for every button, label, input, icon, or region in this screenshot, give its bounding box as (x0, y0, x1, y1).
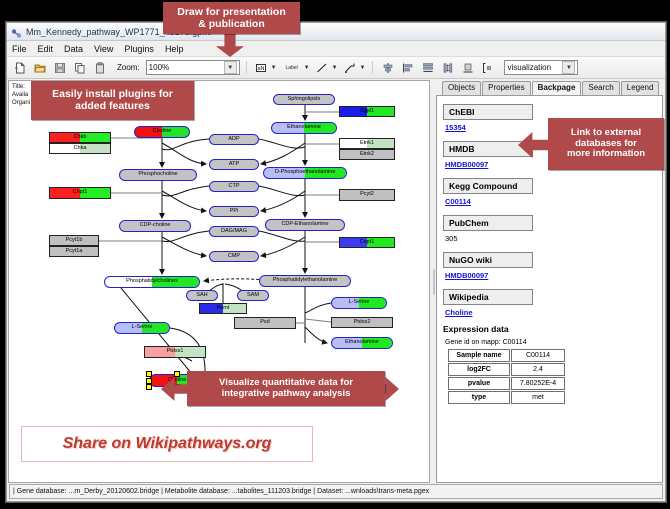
node-label: CMP (228, 254, 240, 260)
node-label: PPi (230, 209, 239, 215)
node-label: Chka (74, 146, 87, 152)
annotation-plugins: Easily install plugins for added feature… (31, 80, 194, 120)
selection-handle[interactable] (146, 371, 152, 377)
toolbar: Zoom: 100% ▼ aN ▼ Label ▼ ▼ ▼ (7, 57, 665, 79)
gene-id-line: Gene id on mapp: C00114 (445, 339, 656, 346)
backpage-header-pubchem: PubChem (443, 215, 533, 231)
pathway-canvas[interactable]: Title: Availa Organi (8, 80, 430, 483)
menu-bar[interactable]: File Edit Data View Plugins Help (7, 41, 665, 57)
node-label: Phosphatidylethanolamine (273, 278, 338, 284)
visualization-chevron-down-icon[interactable]: ▼ (562, 61, 575, 74)
expr-val-sample-name: C00114 (511, 349, 565, 362)
annotation-plugins-text: Easily install plugins for added feature… (52, 88, 173, 112)
pathway-node-ctp[interactable]: CTP (209, 181, 259, 192)
zoom-combo[interactable]: 100% ▼ (146, 60, 240, 75)
table-row: type met (448, 391, 565, 404)
expr-key-sample-name: Sample name (448, 349, 510, 362)
selection-handle[interactable] (146, 384, 152, 390)
expr-key-pvalue: pvalue (448, 377, 510, 390)
zoom-value: 100% (149, 63, 224, 72)
pathway-node-chpt1[interactable]: Chpt1 (49, 187, 111, 199)
annotation-draw: Draw for presentation & publication (163, 2, 300, 34)
backpage-link-wikipedia[interactable]: Choline (445, 308, 656, 317)
save-icon[interactable] (51, 59, 68, 76)
node-label: Cept1 (360, 240, 375, 246)
label-tool-text: Label (286, 65, 298, 71)
distribute-icon[interactable] (439, 59, 456, 76)
toolbar-separator (246, 61, 247, 74)
menu-edit[interactable]: Edit (36, 44, 56, 54)
pathway-node-choline_top[interactable]: Choline (134, 126, 190, 138)
pathway-node-pcyt2[interactable]: Pcyt2 (339, 189, 395, 201)
pathway-node-l_serine_right[interactable]: L-Serine (331, 297, 387, 309)
menu-data[interactable]: Data (62, 44, 85, 54)
node-label: Chpt1 (73, 190, 88, 196)
pathway-node-cmp[interactable]: CMP (209, 251, 259, 262)
pathway-node-atp[interactable]: ATP (209, 159, 259, 170)
pathway-node-ptdss2[interactable]: Ptdss2 (331, 317, 393, 328)
node-label: Pcyt1a (66, 249, 83, 255)
pathway-node-etnk2[interactable]: Etnk2 (339, 149, 395, 160)
tab-backpage[interactable]: Backpage (532, 81, 582, 96)
screen: Mm_Kennedy_pathway_WP1771_45176.gpml Fil… (0, 0, 670, 509)
visualization-combo[interactable]: visualization ▼ (504, 60, 578, 75)
backpage-value-pubchem: 305 (445, 234, 656, 243)
table-row: Sample name C00114 (448, 349, 565, 362)
annotation-share: Share on Wikipathways.org (21, 426, 313, 462)
line-dropdown-icon[interactable]: ▼ (332, 65, 338, 71)
pathway-node-pemt[interactable]: Pemt (199, 303, 247, 314)
menu-file[interactable]: File (10, 44, 29, 54)
menu-help[interactable]: Help (163, 44, 186, 54)
selection-handle[interactable] (174, 371, 180, 377)
svg-text:aN: aN (258, 66, 265, 72)
node-label: Choline (153, 129, 172, 135)
pathway-node-dag_mag[interactable]: DAG/MAG (209, 226, 259, 237)
annotation-share-text: Share on Wikipathways.org (63, 435, 272, 453)
pathway-node-ethanolamine_top[interactable]: Ethanolamine (271, 122, 337, 134)
paste-icon[interactable] (91, 59, 108, 76)
backpage-entry-wikipedia: Wikipedia Choline (443, 287, 656, 317)
node-label: Phosphatidylcholines (126, 279, 178, 285)
node-label: DAG/MAG (221, 229, 247, 235)
node-label: CDP-choline (140, 223, 171, 229)
node-label: Psd (260, 320, 269, 326)
node-label: CDP-Ethanolamine (281, 222, 328, 228)
backpage-header-nugo: NuGO wiki (443, 252, 533, 268)
node-label: L-Serine (349, 300, 370, 306)
node-label: Pcyt2 (360, 192, 374, 198)
pathway-node-chka[interactable]: Chka (49, 143, 111, 154)
open-folder-icon[interactable] (31, 59, 48, 76)
status-text: | Gene database: ...m_Derby_20120602.bri… (13, 488, 429, 495)
datanode-dropdown-icon[interactable]: ▼ (271, 65, 277, 71)
pathway-node-ppi[interactable]: PPi (209, 206, 259, 217)
expression-table: Sample name C00114 log2FC 2.4 pvalue 7.8… (447, 348, 566, 405)
pathway-node-sah[interactable]: SAH (186, 290, 218, 301)
tab-legend[interactable]: Legend (621, 81, 660, 95)
pathway-node-pcyt1b[interactable]: Pcyt1b (49, 235, 99, 246)
pathway-node-ethanolamine_right[interactable]: Ethanolamine (331, 337, 393, 349)
node-label: Ptdss1 (167, 349, 184, 355)
pathway-node-phosphatidylcholines[interactable]: Phosphatidylcholines (104, 276, 200, 288)
pathway-node-phosphatidylethanolamine[interactable]: Phosphatidylethanolamine (259, 275, 351, 287)
pathway-node-sam[interactable]: SAM (237, 290, 269, 301)
pathway-node-pcyt1a[interactable]: Pcyt1a (49, 246, 99, 257)
pathway-node-cdp_ethanolamine[interactable]: CDP-Ethanolamine (265, 219, 345, 231)
annotation-link-text: Link to external databases for more info… (567, 128, 645, 161)
node-label: ADP (228, 137, 239, 143)
backpage-header-chebi: ChEBI (443, 104, 533, 120)
table-row: pvalue 7.80252E-4 (448, 377, 565, 390)
status-bar: | Gene database: ...m_Derby_20120602.bri… (9, 484, 663, 499)
pathway-node-chkb[interactable]: Chkb (49, 132, 111, 143)
side-pane-tabs[interactable]: Objects Properties Backpage Search Legen… (436, 80, 663, 95)
datanode-icon[interactable]: aN (253, 59, 270, 76)
backpage-link-kegg[interactable]: C00114 (445, 197, 656, 206)
pathway-node-adp[interactable]: ADP (209, 134, 259, 145)
menu-plugins[interactable]: Plugins (122, 44, 156, 54)
align-center-icon[interactable] (379, 59, 396, 76)
node-label: Chkb (74, 135, 87, 141)
expr-key-type: type (448, 391, 510, 404)
new-file-icon[interactable] (11, 59, 28, 76)
pathway-node-phosphocholine[interactable]: Phosphocholine (119, 169, 197, 181)
pathway-node-sphingolipids[interactable]: Sphingolipids (273, 94, 335, 105)
visualization-value: visualization (507, 63, 562, 72)
node-label: SAM (247, 293, 259, 299)
table-row: log2FC 2.4 (448, 363, 565, 376)
pathway-node-o_phosphoethanolamine[interactable]: O-Phosphoethanolamine (263, 167, 347, 179)
interaction-dropdown-icon[interactable]: ▼ (360, 65, 366, 71)
expression-data-title: Expression data (443, 324, 656, 334)
pathway-node-psd[interactable]: Psd (234, 317, 296, 329)
expr-key-log2fc: log2FC (448, 363, 510, 376)
copy-icon[interactable] (71, 59, 88, 76)
pathway-node-cdp_choline[interactable]: CDP-choline (119, 220, 191, 232)
pathway-node-l_serine_left[interactable]: L-Serine (114, 322, 170, 334)
menu-view[interactable]: View (92, 44, 115, 54)
backpage-entry-nugo: NuGO wiki HMDB00097 (443, 250, 656, 280)
backpage-header-hmdb: HMDB (443, 141, 533, 157)
annotation-visualize-text: Visualize quantitative data for integrat… (219, 378, 353, 400)
expr-val-log2fc: 2.4 (511, 363, 565, 376)
pathway-node-etnk1[interactable]: Etnk1 (339, 138, 395, 149)
chevron-down-icon[interactable]: ▼ (224, 61, 237, 74)
node-label: Pcyt1b (66, 238, 83, 244)
title-bar: Mm_Kennedy_pathway_WP1771_45176.gpml (7, 23, 665, 41)
pathvisio-icon (11, 26, 22, 37)
backpage-entry-pubchem: PubChem 305 (443, 213, 656, 243)
node-label: Sphingolipids (288, 97, 321, 103)
tab-search[interactable]: Search (582, 81, 619, 95)
application-window: Mm_Kennedy_pathway_WP1771_45176.gpml Fil… (6, 22, 666, 502)
align-left-icon[interactable] (399, 59, 416, 76)
node-label: Ptdss2 (354, 320, 371, 326)
label-tool-button[interactable]: Label (281, 59, 303, 76)
interaction-icon[interactable] (342, 59, 359, 76)
toolbar-separator-2 (372, 61, 373, 74)
label-dropdown-icon[interactable]: ▼ (304, 65, 310, 71)
node-label: Ethanolamine (345, 340, 379, 346)
node-label: O-Phosphoethanolamine (275, 170, 336, 176)
selection-handle[interactable] (146, 378, 152, 384)
node-label: Pemt (217, 306, 230, 312)
backpage-entry-kegg: Kegg Compound C00114 (443, 176, 656, 206)
tab-properties[interactable]: Properties (482, 81, 530, 95)
annotation-draw-text: Draw for presentation & publication (177, 6, 286, 30)
backpage-link-nugo[interactable]: HMDB00097 (445, 271, 656, 280)
align-bottom-icon[interactable] (459, 59, 476, 76)
node-label: Ethanolamine (287, 125, 321, 131)
pathway-node-cept1[interactable]: Cept1 (339, 237, 395, 248)
group-icon[interactable] (479, 59, 496, 76)
annotation-link: Link to external databases for more info… (548, 118, 664, 170)
backpage-header-wikipedia: Wikipedia (443, 289, 533, 305)
node-label: Etnk2 (360, 152, 374, 158)
node-label: L-Serine (132, 325, 153, 331)
node-label: Etnk1 (360, 141, 374, 147)
annotation-visualize: Visualize quantitative data for integrat… (187, 371, 385, 406)
expr-val-pvalue: 7.80252E-4 (511, 377, 565, 390)
node-label: Phosphocholine (138, 172, 177, 178)
tab-objects[interactable]: Objects (442, 81, 481, 95)
node-label: SAH (196, 293, 207, 299)
line-icon[interactable] (314, 59, 331, 76)
node-label: ATP (229, 162, 239, 168)
zoom-label: Zoom: (117, 63, 140, 72)
backpage-header-kegg: Kegg Compound (443, 178, 533, 194)
stack-vertical-icon[interactable] (419, 59, 436, 76)
expr-val-type: met (511, 391, 565, 404)
pathway-node-ptdss1[interactable]: Ptdss1 (144, 346, 206, 358)
node-label: CTP (229, 184, 240, 190)
node-label: Sgpl1 (360, 109, 374, 115)
pathway-node-sgpl1[interactable]: Sgpl1 (339, 106, 395, 117)
